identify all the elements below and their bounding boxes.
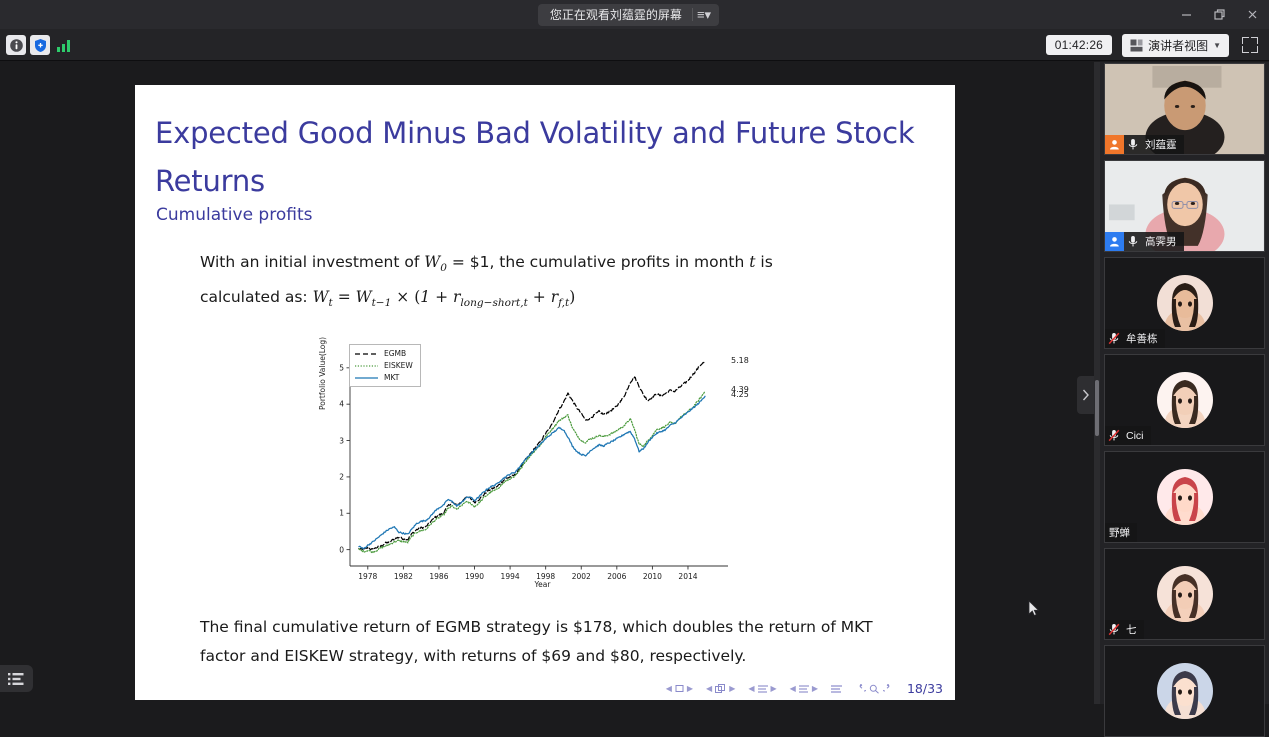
beamer-navigation-bar: ◀ ▶ ◀ ▶ ◀ ▶ ◀ ▶ xyxy=(135,681,955,696)
participant-name: 刘蕴霆 xyxy=(1141,137,1177,152)
cumulative-profit-formula: Wt = Wt−1 × (1 + rlong−short,t + rf,t) xyxy=(313,288,576,306)
chart-ytick-label: 0 xyxy=(320,545,344,554)
legend-label-eiskew: EISKEW xyxy=(384,361,413,370)
chevron-down-icon[interactable]: ▼ xyxy=(1213,41,1221,50)
slide-nav-part-group[interactable]: ◀ ▶ xyxy=(790,684,818,694)
participant-name: 七 xyxy=(1122,622,1137,637)
restore-icon[interactable] xyxy=(1203,0,1236,29)
slide-nav-forward[interactable] xyxy=(883,684,894,694)
close-icon[interactable] xyxy=(1236,0,1269,29)
slide-nav-history-group[interactable] xyxy=(855,684,894,694)
chart-xtick-label: 2006 xyxy=(607,572,626,581)
avatar xyxy=(1157,469,1213,525)
participant-tile[interactable]: 野蝉 xyxy=(1104,451,1265,543)
fullscreen-icon[interactable] xyxy=(1239,34,1261,56)
hamburger-icon[interactable]: ≡▾ xyxy=(692,8,711,21)
host-badge-icon xyxy=(1105,135,1124,154)
list-icon xyxy=(8,672,25,686)
participant-tile[interactable]: 牟善栋 xyxy=(1104,257,1265,349)
frames-stack-icon[interactable] xyxy=(715,684,726,694)
slide-body-top-line1: With an initial investment of W0 = $1, t… xyxy=(200,248,900,283)
nav-prev-icon[interactable]: ◀ xyxy=(666,684,672,693)
participant-tile[interactable] xyxy=(1104,645,1265,737)
participant-label: 七 xyxy=(1105,620,1144,639)
toolbar-left-group xyxy=(6,29,74,61)
toc-icon[interactable] xyxy=(831,684,842,694)
window-titlebar: 您正在观看刘蕴霆的屏幕 ≡▾ xyxy=(0,0,1269,29)
text-fragment: calculated as: xyxy=(200,288,313,306)
slide-nav-toc[interactable] xyxy=(831,684,842,694)
cursor-arrow xyxy=(1028,600,1040,618)
slide-nav-subsection-group[interactable]: ◀ ▶ xyxy=(706,684,735,694)
mic-off-icon xyxy=(1105,332,1122,345)
chart-xtick-label: 2014 xyxy=(678,572,697,581)
toolbar-right-group: 01:42:26 演讲者视图 ▼ xyxy=(1046,29,1261,61)
symbol-w0: W0 xyxy=(424,253,447,271)
participant-tile[interactable]: 七 xyxy=(1104,548,1265,640)
text-fragment: = $1, the cumulative profits in month xyxy=(447,253,749,271)
avatar-image xyxy=(1157,275,1213,331)
slide-nav-section-group[interactable]: ◀ ▶ xyxy=(748,684,776,694)
chart-ytick-label: 5 xyxy=(320,363,344,372)
chart-xtick-label: 2002 xyxy=(572,572,591,581)
chart-xtick-label: 1986 xyxy=(429,572,448,581)
legend-label-mkt: MKT xyxy=(384,373,399,382)
meeting-toolbar: 01:42:26 演讲者视图 ▼ xyxy=(0,29,1269,61)
chart-xtick-label: 1990 xyxy=(465,572,484,581)
shared-screen-stage: Expected Good Minus Bad Volatility and F… xyxy=(0,62,1096,704)
chart-end-label-mkt: 4.25 xyxy=(731,390,749,399)
mic-on-icon xyxy=(1124,138,1141,151)
window-controls xyxy=(1170,0,1269,29)
shield-icon[interactable] xyxy=(30,35,50,55)
slide-counter: 18/33 xyxy=(907,681,943,696)
participant-label: 野蝉 xyxy=(1105,523,1137,542)
nav-next-icon[interactable]: ▶ xyxy=(771,684,777,693)
text-fragment: is xyxy=(756,253,773,271)
nav-prev-icon[interactable]: ◀ xyxy=(706,684,712,693)
nav-next-icon[interactable]: ▶ xyxy=(729,684,735,693)
chart-xtick-label: 1994 xyxy=(501,572,520,581)
chart-legend: EGMB EISKEW MKT xyxy=(349,344,421,387)
participant-name: 牟善栋 xyxy=(1122,331,1158,346)
chart-ytick-label: 3 xyxy=(320,436,344,445)
network-signal-icon[interactable] xyxy=(54,35,74,55)
chart-xtick-label: 2010 xyxy=(643,572,662,581)
part-lines-icon[interactable] xyxy=(799,684,809,694)
screen-share-banner[interactable]: 您正在观看刘蕴霆的屏幕 ≡▾ xyxy=(538,4,719,26)
participant-label: Cici xyxy=(1105,426,1151,445)
collapse-panel-button[interactable] xyxy=(1077,376,1094,414)
nav-next-icon[interactable]: ▶ xyxy=(812,684,818,693)
participant-label: 高霁男 xyxy=(1105,232,1184,251)
slide-body-top: With an initial investment of W0 = $1, t… xyxy=(200,248,900,318)
legend-swatch-egmb xyxy=(355,350,378,358)
minimize-icon[interactable] xyxy=(1170,0,1203,29)
presentation-slide: Expected Good Minus Bad Volatility and F… xyxy=(135,85,955,700)
view-mode-label: 演讲者视图 xyxy=(1148,37,1208,54)
info-icon[interactable] xyxy=(6,35,26,55)
slide-body-top-line2: calculated as: Wt = Wt−1 × (1 + rlong−sh… xyxy=(200,283,900,318)
chart-ytick-label: 2 xyxy=(320,472,344,481)
chart-xtick-label: 1982 xyxy=(394,572,413,581)
slide-nav-frame[interactable]: ◀ ▶ xyxy=(666,684,693,693)
avatar-image xyxy=(1157,566,1213,622)
nav-prev-icon[interactable]: ◀ xyxy=(790,684,796,693)
legend-item: EGMB xyxy=(355,349,413,358)
participant-name: 高霁男 xyxy=(1141,234,1177,249)
chart-ytick-label: 4 xyxy=(320,400,344,409)
participants-list-button[interactable] xyxy=(0,665,33,692)
avatar xyxy=(1157,566,1213,622)
chart-x-axis-label: Year xyxy=(320,580,765,589)
avatar xyxy=(1157,275,1213,331)
avatar xyxy=(1157,663,1213,719)
avatar-image xyxy=(1157,372,1213,428)
chart-ytick-label: 1 xyxy=(320,509,344,518)
mic-on-icon xyxy=(1124,235,1141,248)
participant-video-panel: 刘蕴霆高霁男牟善栋Cici野蝉七 xyxy=(1100,62,1269,704)
mic-off-icon xyxy=(1105,623,1122,636)
scrollbar-thumb[interactable] xyxy=(1095,380,1099,436)
avatar-image xyxy=(1157,469,1213,525)
meeting-timer: 01:42:26 xyxy=(1046,35,1112,55)
legend-label-egmb: EGMB xyxy=(384,349,406,358)
participant-name: Cici xyxy=(1122,430,1144,442)
screen-share-banner-text: 您正在观看刘蕴霆的屏幕 xyxy=(550,8,682,22)
participant-name: 野蝉 xyxy=(1105,525,1130,540)
slide-subtitle: Cumulative profits xyxy=(156,205,312,225)
section-lines-icon[interactable] xyxy=(758,684,768,694)
cohost-badge-icon xyxy=(1105,232,1124,251)
avatar xyxy=(1157,372,1213,428)
slide-nav-back[interactable] xyxy=(855,684,866,694)
chart-xtick-label: 1998 xyxy=(536,572,555,581)
avatar-image xyxy=(1157,663,1213,719)
nav-next-icon[interactable]: ▶ xyxy=(687,684,693,693)
layout-icon xyxy=(1130,39,1143,52)
text-fragment: With an initial investment of xyxy=(200,253,424,271)
chart-end-label-egmb: 5.18 xyxy=(731,356,749,365)
participant-tile[interactable]: Cici xyxy=(1104,354,1265,446)
participant-label: 刘蕴霆 xyxy=(1105,135,1184,154)
frame-icon[interactable] xyxy=(675,684,684,693)
legend-swatch-mkt xyxy=(355,374,378,382)
slide-title: Expected Good Minus Bad Volatility and F… xyxy=(155,109,915,205)
slide-nav-search[interactable] xyxy=(869,684,880,694)
participant-tile[interactable]: 刘蕴霆 xyxy=(1104,63,1265,155)
participant-tile[interactable]: 高霁男 xyxy=(1104,160,1265,252)
mic-off-icon xyxy=(1105,429,1122,442)
cumulative-profits-chart: Portfolio Value(Log) EGMB EISKEW xyxy=(320,340,765,595)
legend-item: EISKEW xyxy=(355,361,413,370)
legend-swatch-eiskew xyxy=(355,362,378,370)
nav-prev-icon[interactable]: ◀ xyxy=(748,684,754,693)
view-mode-selector[interactable]: 演讲者视图 ▼ xyxy=(1122,34,1229,57)
slide-body-bottom: The final cumulative return of EGMB stra… xyxy=(200,613,900,671)
chart-xtick-label: 1978 xyxy=(358,572,377,581)
participant-label: 牟善栋 xyxy=(1105,329,1165,348)
legend-item: MKT xyxy=(355,373,413,382)
chevron-right-icon xyxy=(1082,389,1090,401)
